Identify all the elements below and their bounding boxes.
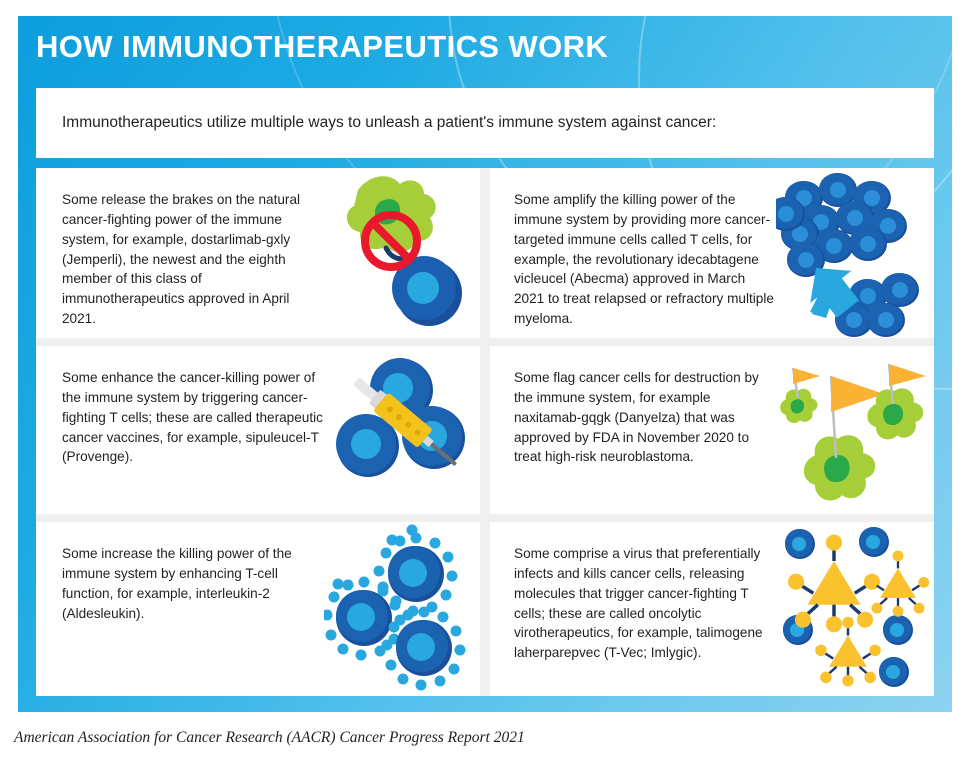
- source-caption: American Association for Cancer Research…: [14, 729, 525, 747]
- panel-release-brakes: Some release the brakes on the natural c…: [36, 168, 480, 338]
- art-syringe-with-cells: [324, 346, 480, 514]
- art-cancer-cell-blocked-by-checkpoint: [324, 168, 480, 338]
- infographic-root: HOW IMMUNOTHERAPEUTICS WORK Immunotherap…: [0, 0, 970, 758]
- panel-text: Some increase the killing power of the i…: [62, 544, 324, 623]
- panel-text: Some amplify the killing power of the im…: [514, 190, 776, 329]
- panel-row: Some release the brakes on the natural c…: [36, 168, 934, 338]
- panel-text: Some flag cancer cells for destruction b…: [514, 368, 776, 467]
- panel-gap: [480, 168, 490, 338]
- art-flagged-cancer-cells: [776, 346, 934, 514]
- art-t-cell-expansion-arrow: [776, 168, 934, 338]
- intro-text: Immunotherapeutics utilize multiple ways…: [62, 114, 716, 132]
- panel-row: Some increase the killing power of the i…: [36, 522, 934, 696]
- panel-gap: [480, 522, 490, 696]
- panel-text: Some release the brakes on the natural c…: [62, 190, 324, 329]
- panel-flag-cancer-cells: Some flag cancer cells for destruction b…: [490, 346, 934, 514]
- panel-increase-killing-power: Some increase the killing power of the i…: [36, 522, 480, 696]
- intro-bar: Immunotherapeutics utilize multiple ways…: [36, 88, 934, 158]
- panel-enhance-cancer-killing: Some enhance the cancer-killing power of…: [36, 346, 480, 514]
- panel-grid: Some release the brakes on the natural c…: [36, 168, 934, 696]
- panel-amplify-killing-power: Some amplify the killing power of the im…: [490, 168, 934, 338]
- page-title: HOW IMMUNOTHERAPEUTICS WORK: [36, 29, 608, 65]
- panel-text: Some comprise a virus that preferentiall…: [514, 544, 776, 663]
- panel-text: Some enhance the cancer-killing power of…: [62, 368, 324, 467]
- panel-oncolytic-virus: Some comprise a virus that preferentiall…: [490, 522, 934, 696]
- art-cytokine-surrounded-t-cells: [324, 522, 480, 696]
- art-oncolytic-virus-particles: [776, 522, 934, 696]
- panel-row: Some enhance the cancer-killing power of…: [36, 346, 934, 514]
- panel-gap: [480, 346, 490, 514]
